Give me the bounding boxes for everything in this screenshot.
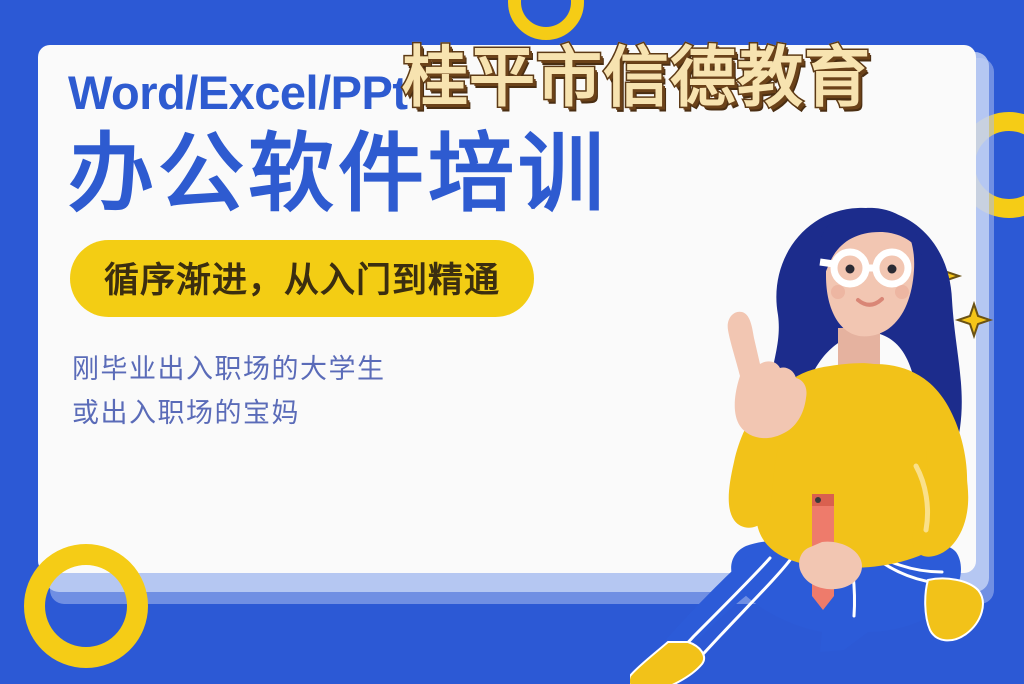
- subtitle-line-2: 或出入职场的宝妈: [72, 391, 788, 436]
- decorative-ring-bottom-left-icon: [24, 544, 148, 668]
- headline-chinese: 办公软件培训: [68, 126, 788, 222]
- shoe-left: [630, 642, 704, 684]
- content-card: Word/Excel/PPt 办公软件培训 循序渐进，从入门到精通 刚毕业出入职…: [38, 45, 976, 573]
- subtitle-list: 刚毕业出入职场的大学生 或出入职场的宝妈: [72, 347, 788, 436]
- text-block: Word/Excel/PPt 办公软件培训 循序渐进，从入门到精通 刚毕业出入职…: [68, 67, 788, 436]
- subtitle-line-1: 刚毕业出入职场的大学生: [72, 347, 788, 392]
- tagline-badge: 循序渐进，从入门到精通: [70, 240, 534, 317]
- poster-canvas: Word/Excel/PPt 办公软件培训 循序渐进，从入门到精通 刚毕业出入职…: [0, 0, 1024, 684]
- watermark-text: 桂平市信德教育: [402, 24, 871, 120]
